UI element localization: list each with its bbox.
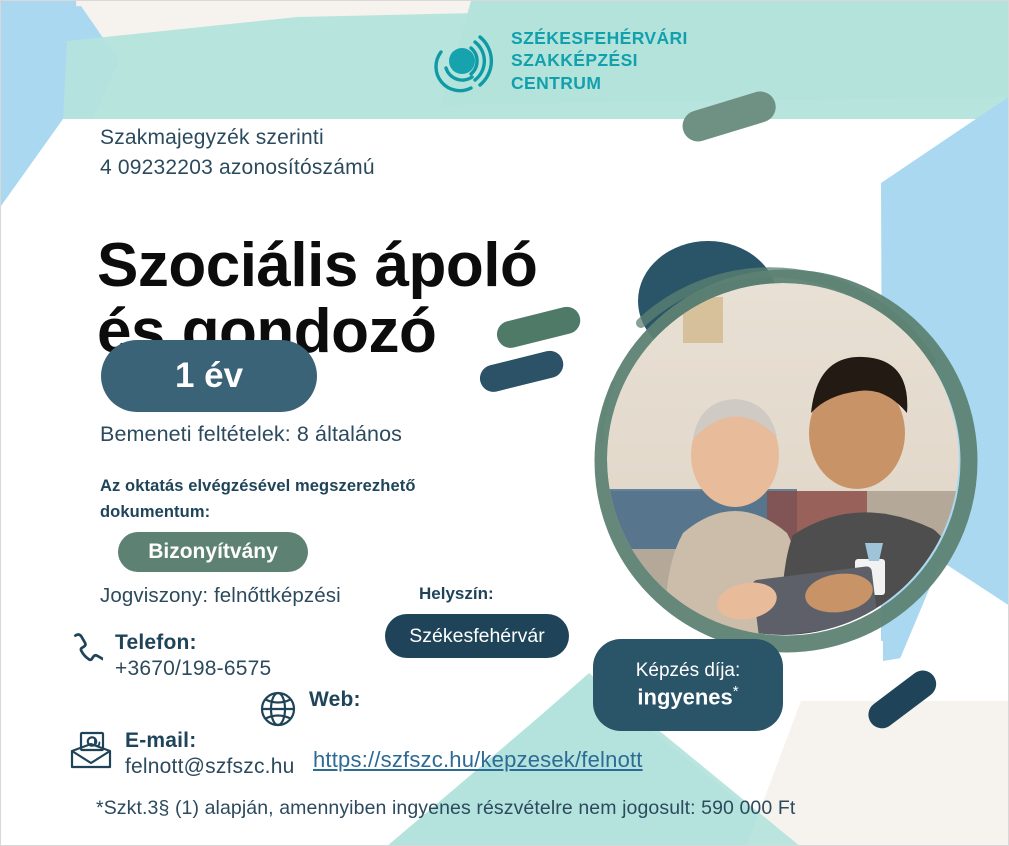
phone-value: +3670/198-6575	[115, 657, 271, 681]
email-text-block: E-mail: felnott@szfszc.hu	[125, 729, 294, 779]
contact-email: E-mail: felnott@szfszc.hu	[69, 729, 294, 779]
venue-label: Helyszín:	[419, 584, 494, 604]
logo-line-1: SZÉKESFEHÉRVÁRI	[511, 29, 688, 49]
poster-root: SZÉKESFEHÉRVÁRI SZAKKÉPZÉSI CENTRUM Szak…	[0, 0, 1009, 846]
navy-pill-bottom-right	[863, 665, 942, 734]
price-asterisk: *	[733, 683, 739, 700]
cream-bottom-right-block	[746, 701, 1009, 846]
entry-conditions: Bemeneti feltételek: 8 általános	[100, 422, 402, 447]
phone-icon	[73, 633, 103, 672]
email-value: felnott@szfszc.hu	[125, 755, 294, 779]
document-label-line-1: Az oktatás elvégzésével megszerezhető	[100, 473, 416, 499]
web-label: Web:	[309, 688, 361, 712]
light-blue-corner-shape	[1, 1, 79, 201]
document-badge: Bizonyítvány	[118, 532, 308, 572]
duration-badge: 1 év	[101, 340, 317, 412]
program-kicker: Szakmajegyzék szerinti 4 09232203 azonos…	[100, 123, 375, 183]
concentric-circles-logo-icon	[431, 28, 497, 94]
organization-logo: SZÉKESFEHÉRVÁRI SZAKKÉPZÉSI CENTRUM	[431, 15, 691, 107]
document-label: Az oktatás elvégzésével megszerezhető do…	[100, 473, 416, 526]
logo-line-2: SZAKKÉPZÉSI	[511, 51, 688, 71]
envelope-at-icon	[69, 731, 113, 774]
venue-badge: Székesfehérvár	[385, 614, 569, 658]
price-value-row: ingyenes*	[637, 683, 738, 711]
globe-icon	[259, 690, 297, 733]
web-text-block: Web:	[309, 688, 361, 712]
kicker-line-1: Szakmajegyzék szerinti	[100, 123, 375, 153]
contact-web: Web:	[259, 688, 361, 733]
legal-status: Jogviszony: felnőttképzési	[100, 584, 341, 608]
phone-text-block: Telefon: +3670/198-6575	[115, 631, 271, 681]
price-footnote: *Szkt.3§ (1) alapján, amennyiben ingyene…	[96, 797, 795, 820]
caregiver-and-elderly-man-photo	[607, 283, 959, 635]
phone-label: Telefon:	[115, 631, 271, 655]
title-line-1: Szociális ápoló	[97, 233, 537, 299]
contact-phone: Telefon: +3670/198-6575	[73, 631, 271, 681]
price-value: ingyenes	[637, 684, 732, 709]
web-url-link[interactable]: https://szfszc.hu/kepzesek/felnott	[313, 747, 643, 773]
caregiver-photo	[607, 283, 959, 635]
price-callout: Képzés díja: ingyenes*	[593, 639, 783, 731]
logo-line-3: CENTRUM	[511, 74, 688, 94]
kicker-line-2: 4 09232203 azonosítószámú	[100, 153, 375, 183]
logo-text: SZÉKESFEHÉRVÁRI SZAKKÉPZÉSI CENTRUM	[511, 29, 688, 94]
document-label-line-2: dokumentum:	[100, 499, 416, 525]
sage-pill-top	[679, 88, 780, 146]
price-label: Képzés díja:	[636, 659, 741, 683]
